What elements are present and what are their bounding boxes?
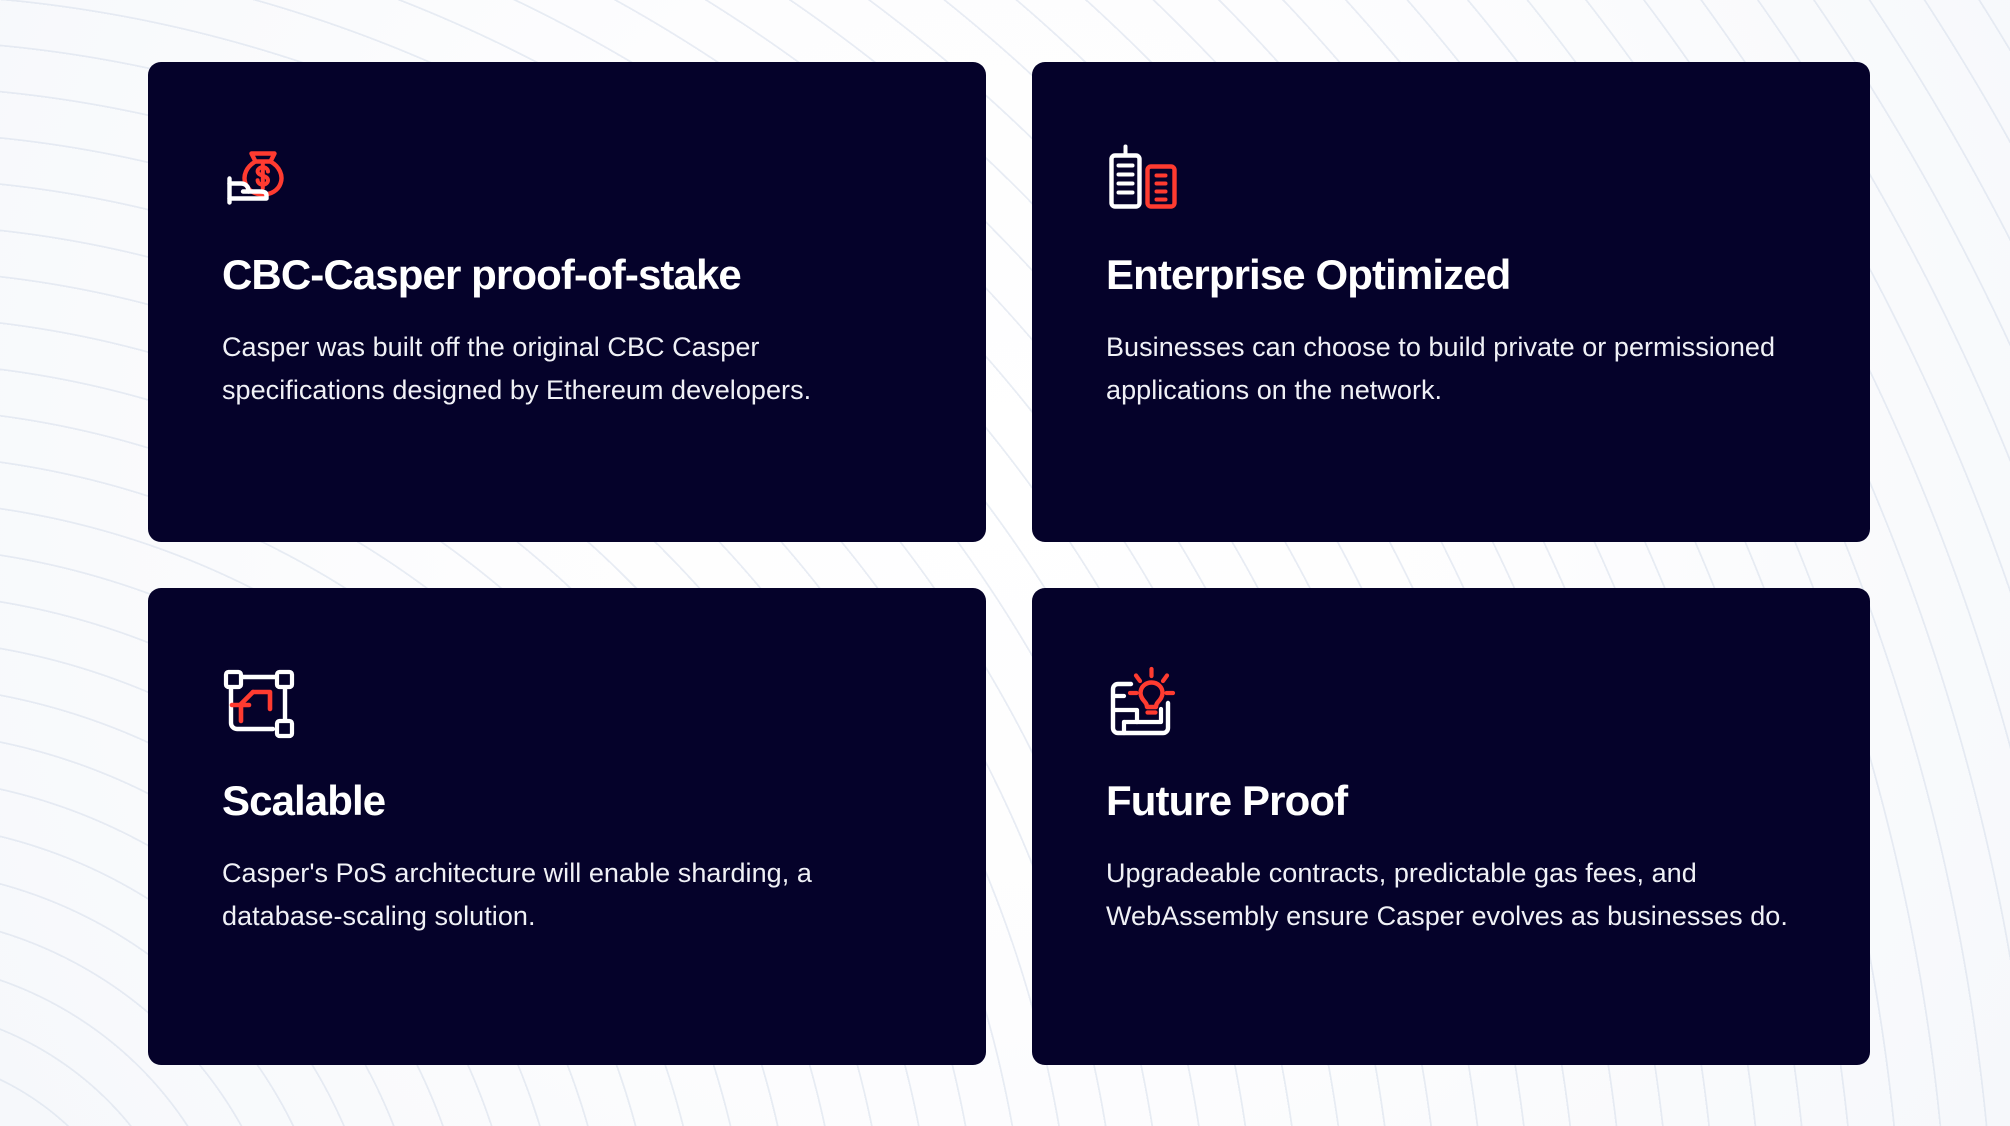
feature-card-body: Casper's PoS architecture will enable sh… xyxy=(222,852,862,937)
feature-card-title: Scalable xyxy=(222,778,912,824)
feature-card-body: Casper was built off the original CBC Ca… xyxy=(222,326,862,411)
feature-card-cbc-casper-proof-of-stake[interactable]: CBC-Casper proof-of-stake Casper was bui… xyxy=(148,62,986,542)
feature-card-scalable[interactable]: Scalable Casper's PoS architecture will … xyxy=(148,588,986,1065)
feature-card-title: CBC-Casper proof-of-stake xyxy=(222,252,912,298)
resize-arrow-icon xyxy=(222,666,296,740)
feature-card-enterprise-optimized[interactable]: Enterprise Optimized Businesses can choo… xyxy=(1032,62,1870,542)
feature-card-body: Upgradeable contracts, predictable gas f… xyxy=(1106,852,1796,937)
feature-card-future-proof[interactable]: Future Proof Upgradeable contracts, pred… xyxy=(1032,588,1870,1065)
money-bag-hand-icon xyxy=(222,140,296,214)
feature-card-body: Businesses can choose to build private o… xyxy=(1106,326,1796,411)
feature-card-title: Enterprise Optimized xyxy=(1106,252,1796,298)
feature-card-grid: CBC-Casper proof-of-stake Casper was bui… xyxy=(148,62,1870,1065)
feature-card-title: Future Proof xyxy=(1106,778,1796,824)
lightbulb-circuit-icon xyxy=(1106,666,1180,740)
office-buildings-icon xyxy=(1106,140,1180,214)
